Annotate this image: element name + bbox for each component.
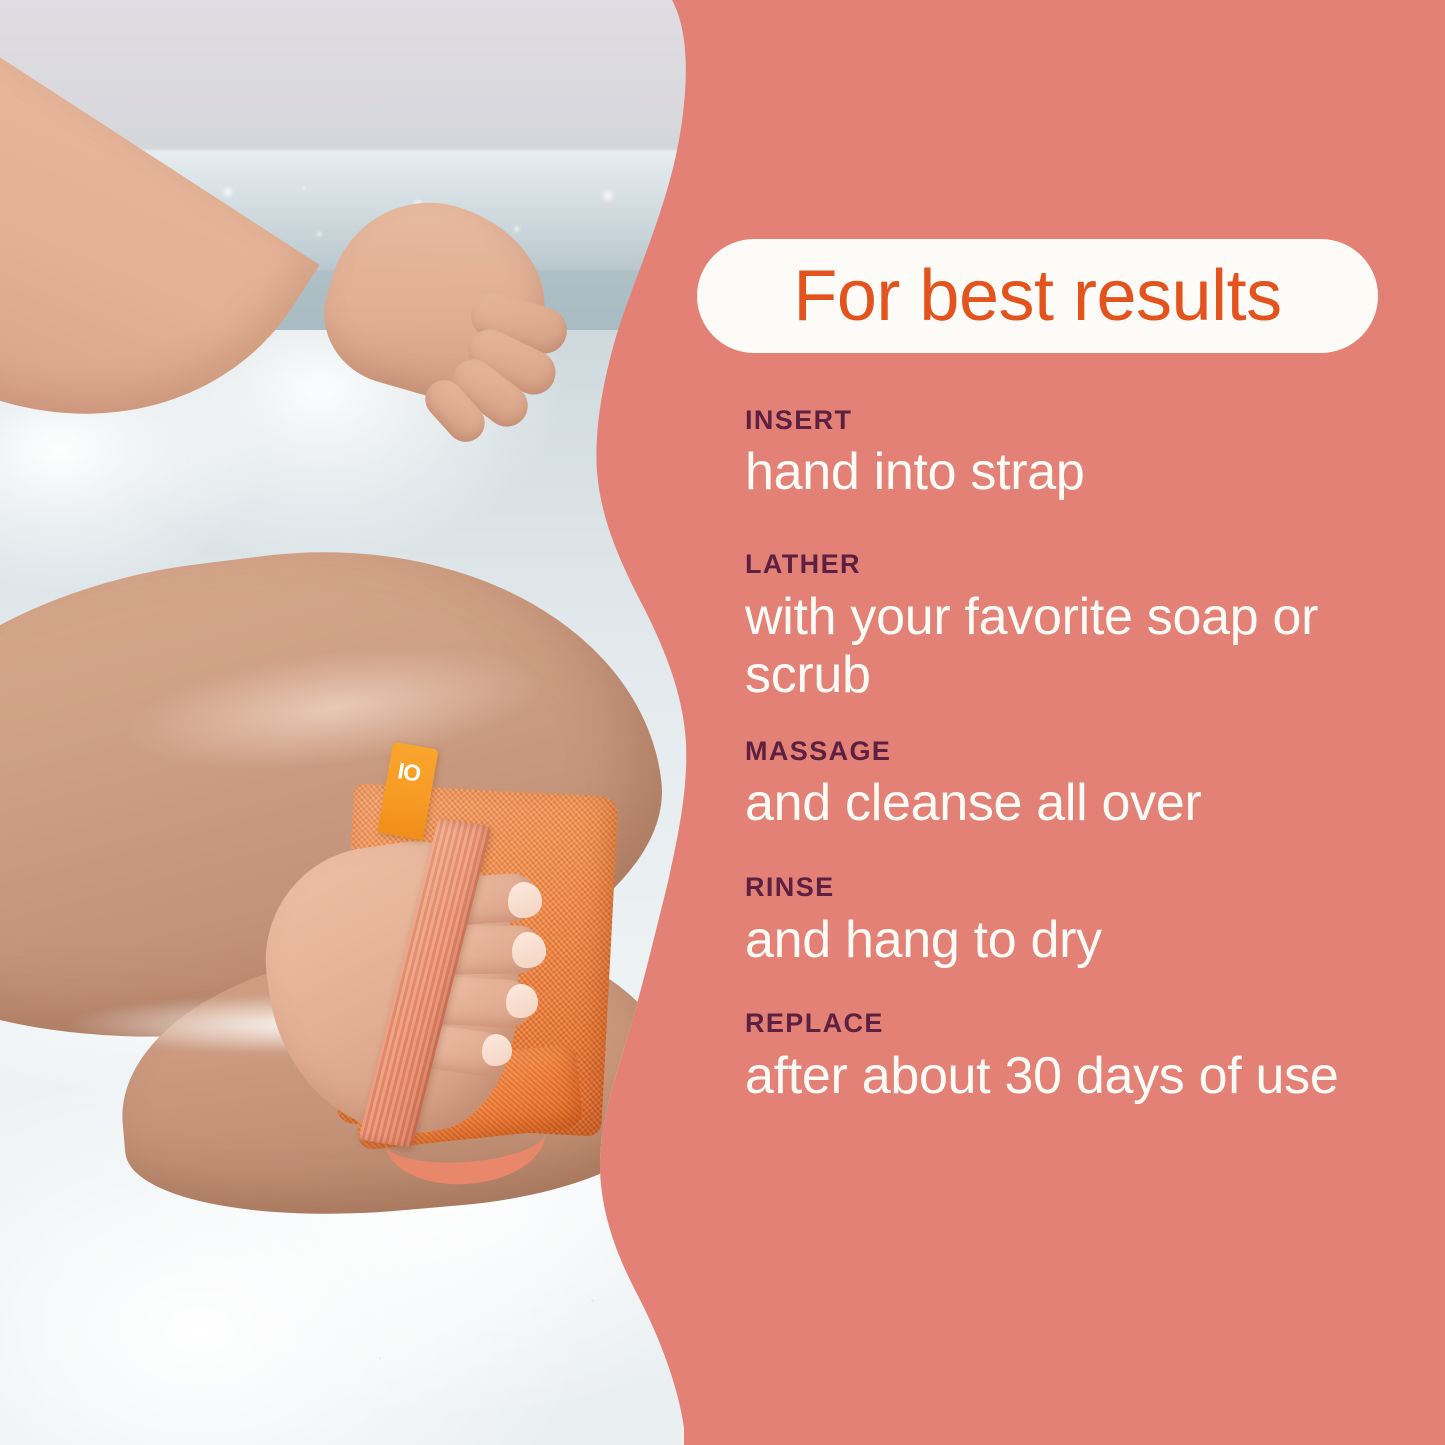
step-massage: MASSAGE and cleanse all over: [745, 735, 1405, 833]
step-rinse: RINSE and hang to dry: [745, 871, 1405, 969]
step-insert: INSERT hand into strap: [745, 404, 1405, 502]
step-text-rinse: and hang to dry: [745, 911, 1405, 970]
step-label-insert: INSERT: [745, 404, 1405, 436]
instructions-panel: For best results INSERT hand into strap …: [0, 0, 1445, 1445]
step-label-rinse: RINSE: [745, 871, 1405, 903]
step-text-insert: hand into strap: [745, 443, 1405, 502]
headline-pill: For best results: [697, 239, 1378, 353]
step-label-lather: LATHER: [745, 548, 1405, 580]
step-text-lather: with your favorite soap or scrub: [745, 588, 1405, 706]
step-label-replace: REPLACE: [745, 1007, 1405, 1039]
step-label-massage: MASSAGE: [745, 735, 1405, 767]
page-title: For best results: [793, 260, 1281, 332]
step-text-replace: after about 30 days of use: [745, 1047, 1405, 1106]
product-instructions-poster: IO For best results INSERT hand into str…: [0, 0, 1445, 1445]
steps-list: INSERT hand into strap LATHER with your …: [745, 404, 1405, 1105]
step-replace: REPLACE after about 30 days of use: [745, 1007, 1405, 1105]
step-lather: LATHER with your favorite soap or scrub: [745, 548, 1405, 705]
step-text-massage: and cleanse all over: [745, 774, 1405, 833]
